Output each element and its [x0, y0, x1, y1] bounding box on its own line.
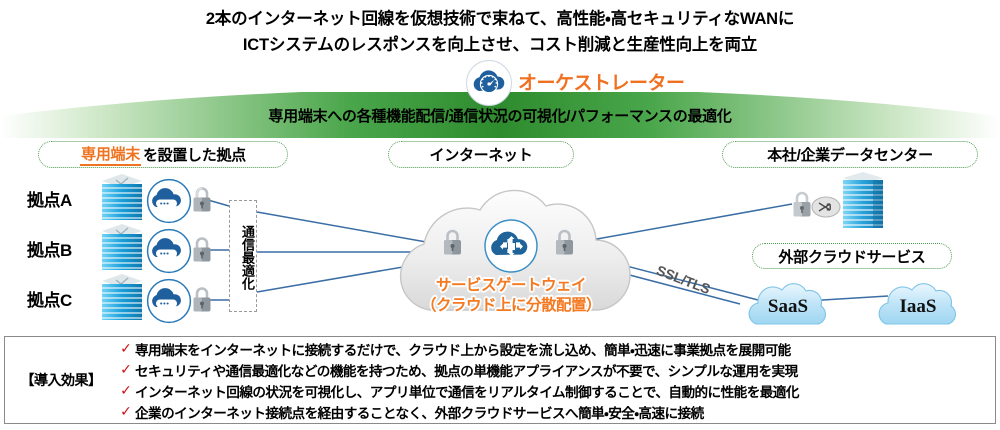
service-gateway-label: サービスゲートウェイ （クラウド上に分散配置） — [368, 276, 654, 316]
optimization-box-label: 通信最適化 — [229, 205, 257, 309]
padlock-icon — [440, 226, 465, 257]
orchestrator-banner-text: 専用端末への各種機能配信/通信状況の可視化/パフォーマンスの最適化 — [0, 105, 1000, 126]
check-icon: ✓ — [117, 361, 135, 378]
site-label-b: 拠点B — [27, 236, 72, 261]
service-gateway-line-1: サービスゲートウェイ — [368, 276, 654, 296]
building-icon — [100, 172, 144, 224]
list-item: ✓ セキュリティや通信最適化などの機能を持つため、拠点の単機能アプライアンスが不… — [117, 359, 987, 380]
orchestrator-label: オーケストレーター — [518, 68, 685, 95]
cloud-router-icon[interactable] — [146, 178, 192, 224]
check-icon: ✓ — [117, 403, 135, 420]
section-label-internet: インターネット — [388, 141, 574, 168]
effect-text: 企業のインターネット接続点を経由することなく、外部クラウドサービスへ簡単・安全・… — [135, 402, 704, 422]
effects-box: 【導入効果】 ✓ 専用端末をインターネットに接続するだけで、クラウド上から設定を… — [4, 336, 996, 424]
list-item: ✓ 専用端末をインターネットに接続するだけで、クラウド上から設定を流し込め、簡単… — [117, 338, 987, 359]
page-title: 2本のインターネット回線を仮想技術で束ねて、高性能・高セキュリティなWANに I… — [0, 6, 1000, 58]
cloud-router-icon[interactable] — [146, 228, 192, 274]
branch-highlight-text: 専用端末 — [80, 143, 141, 166]
check-icon: ✓ — [117, 340, 135, 357]
effect-text: インターネット回線の状況を可視化し、アプリ単位で通信をリアルタイム制御することで… — [135, 381, 799, 401]
ssl-tls-label: SSL/TLS — [654, 262, 712, 297]
router-icon — [810, 194, 842, 220]
building-icon — [100, 222, 144, 274]
padlock-icon — [190, 234, 214, 264]
padlock-icon — [552, 226, 577, 257]
headline-line-2: ICTシステムのレスポンスを向上させ、コスト削減と生産性向上を両立 — [0, 32, 1000, 58]
cloud-gauge-icon — [466, 60, 512, 106]
iaas-label: IaaS — [872, 296, 964, 318]
service-gateway-line-2: （クラウド上に分散配置） — [368, 296, 654, 316]
orchestrator-node[interactable]: オーケストレーター — [466, 60, 696, 106]
saas-label: SaaS — [742, 296, 834, 318]
effect-text: セキュリティや通信最適化などの機能を持つため、拠点の単機能アプライアンスが不要で… — [135, 360, 798, 380]
site-label-c: 拠点C — [27, 286, 72, 311]
building-icon — [100, 272, 144, 324]
section-label-external-cloud: 外部クラウドサービス — [752, 243, 952, 269]
effects-list: ✓ 専用端末をインターネットに接続するだけで、クラウド上から設定を流し込め、簡単… — [117, 338, 995, 422]
check-icon: ✓ — [117, 382, 135, 399]
effects-title: 【導入効果】 — [5, 370, 117, 390]
server-rack-icon — [840, 170, 886, 232]
headline-line-1: 2本のインターネット回線を仮想技術で束ねて、高性能・高セキュリティなWANに — [0, 6, 1000, 32]
cloud-router-icon[interactable] — [146, 278, 192, 324]
padlock-icon — [190, 284, 214, 314]
site-label-a: 拠点A — [27, 186, 72, 211]
cloud-arrows-icon[interactable] — [483, 218, 539, 274]
padlock-icon — [190, 184, 214, 214]
list-item: ✓ インターネット回線の状況を可視化し、アプリ単位で通信をリアルタイム制御するこ… — [117, 380, 987, 401]
branch-rest-text: を設置した拠点 — [143, 144, 246, 165]
list-item: ✓ 企業のインターネット接続点を経由することなく、外部クラウドサービスへ簡単・安… — [117, 401, 987, 422]
section-label-branch: 専用端末を設置した拠点 — [38, 141, 288, 168]
section-label-hq: 本社/企業データセンター — [722, 141, 978, 168]
effect-text: 専用端末をインターネットに接続するだけで、クラウド上から設定を流し込め、簡単・迅… — [135, 339, 791, 359]
